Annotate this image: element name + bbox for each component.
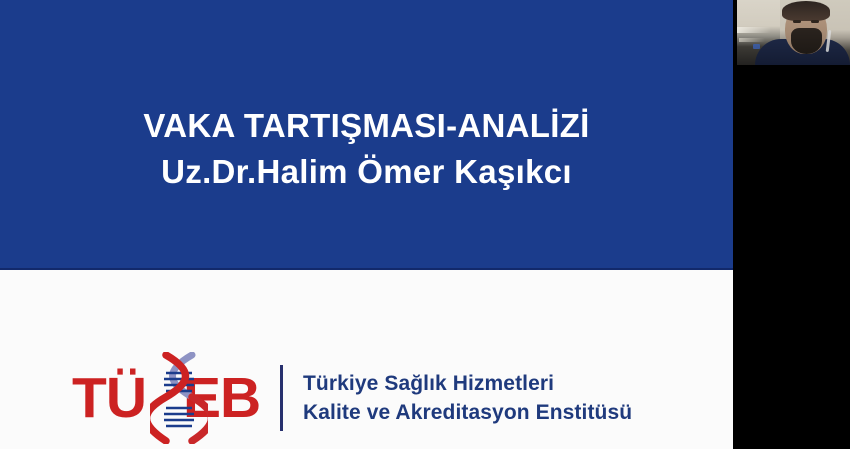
video-rail-empty-area: [733, 65, 850, 449]
institute-name-line-1: Türkiye Sağlık Hizmetleri: [303, 369, 672, 398]
shared-presentation-slide[interactable]: VAKA TARTIŞMASI-ANALİZİ Uz.Dr.Halim Ömer…: [0, 0, 733, 449]
webcam-blue-screen-glint: [753, 44, 760, 49]
logo-divider: [280, 365, 283, 431]
webcam-light-reflection-secondary: [739, 38, 765, 42]
webcam-person-eye-right: [811, 20, 819, 23]
tuseb-wordmark-head: TÜ: [72, 366, 146, 430]
meeting-screen: VAKA TARTIŞMASI-ANALİZİ Uz.Dr.Halim Ömer…: [0, 0, 850, 449]
slide-title-block: VAKA TARTIŞMASI-ANALİZİ Uz.Dr.Halim Ömer…: [0, 103, 733, 195]
dna-helix-icon: [150, 352, 208, 444]
institute-name-block: Türkiye Sağlık Hizmetleri Kalite ve Akre…: [303, 369, 672, 427]
institute-name-line-2: Kalite ve Akreditasyon Enstitüsü: [303, 398, 672, 427]
participant-webcam-thumbnail[interactable]: [737, 0, 850, 65]
slide-subtitle-presenter-name: Uz.Dr.Halim Ömer Kaşıkcı: [0, 149, 733, 195]
slide-title-banner: VAKA TARTIŞMASI-ANALİZİ Uz.Dr.Halim Ömer…: [0, 0, 733, 270]
webcam-person-hair: [782, 1, 830, 21]
webcam-person-eye-left: [793, 20, 801, 23]
webcam-light-reflection: [737, 27, 771, 33]
tuseb-logo-mark: TÜSEB: [72, 352, 268, 444]
slide-title: VAKA TARTIŞMASI-ANALİZİ: [0, 103, 733, 149]
video-rail: [733, 0, 850, 449]
webcam-person-beard: [791, 28, 822, 54]
tuseb-logo-lockup: TÜSEB: [72, 352, 672, 444]
banner-bottom-edge: [0, 268, 733, 270]
